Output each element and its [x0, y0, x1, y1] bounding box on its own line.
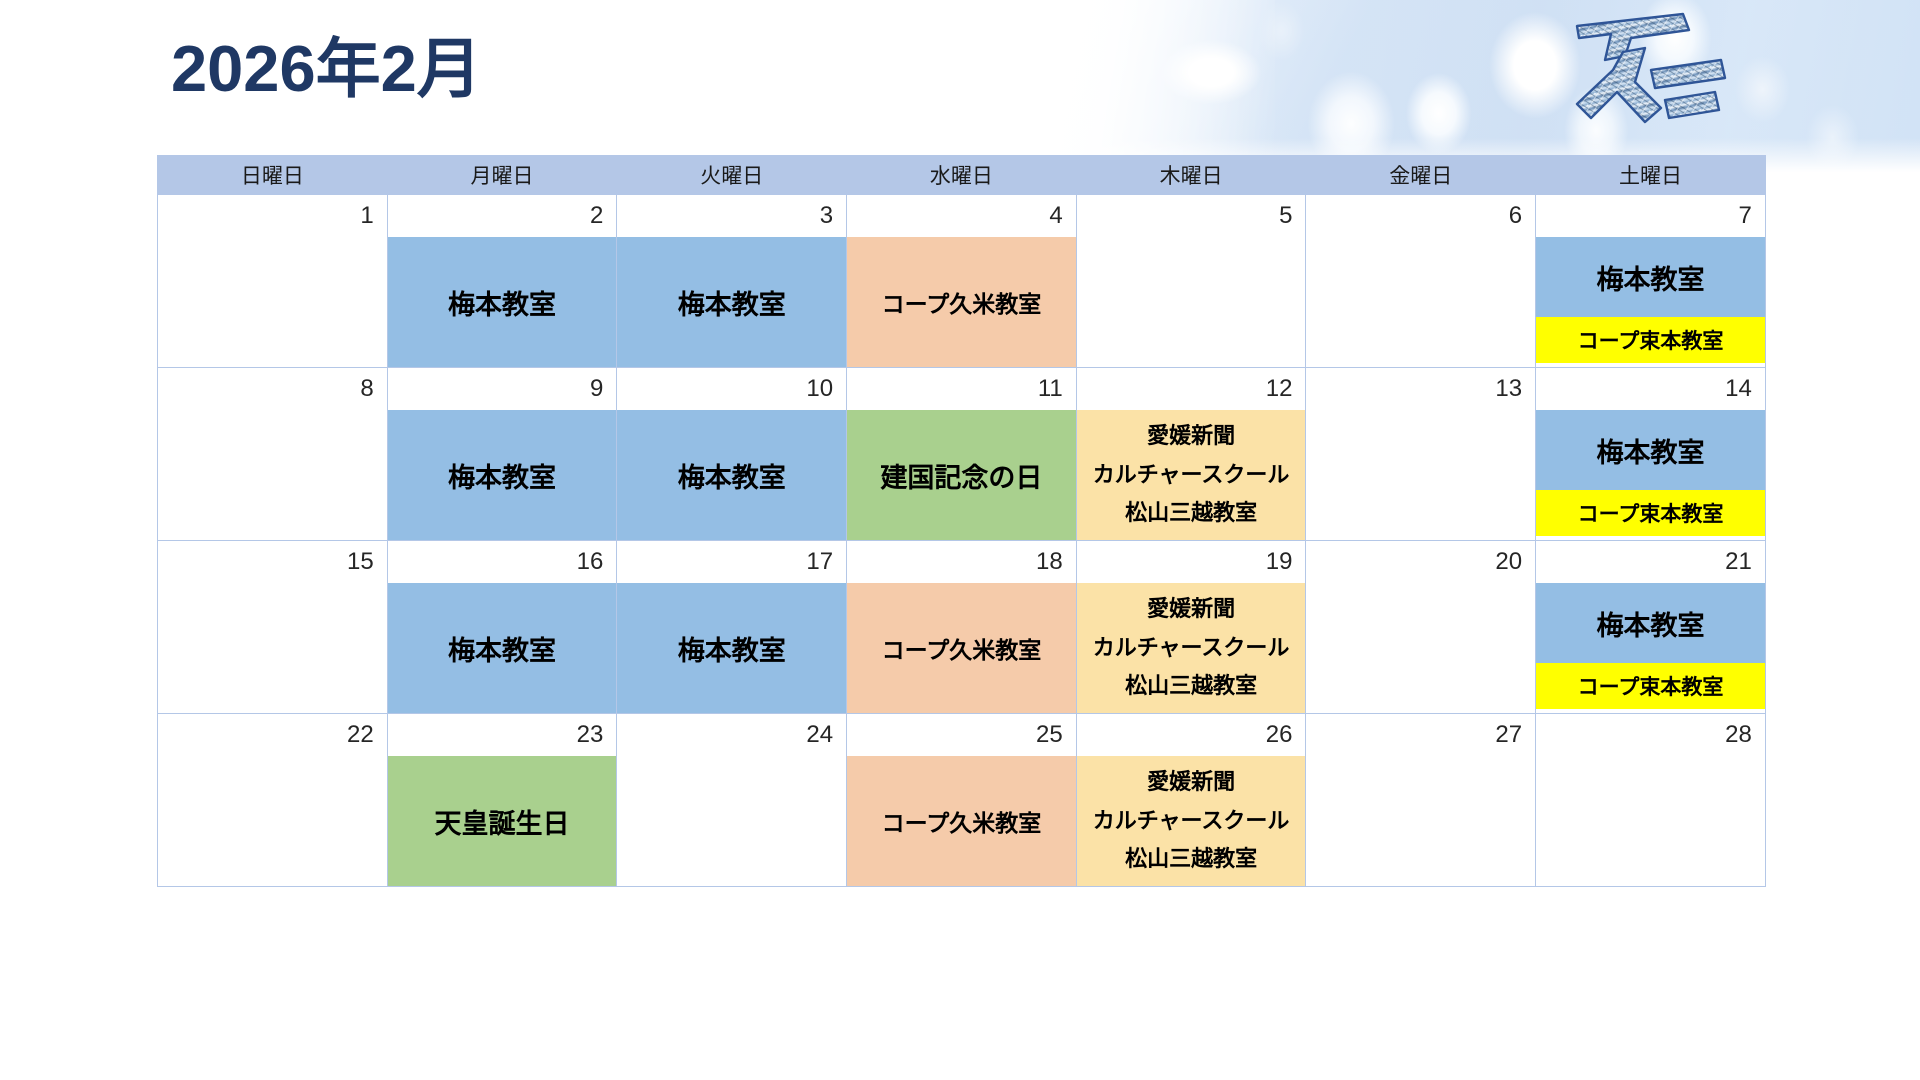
- day-events: 天皇誕生日: [388, 756, 617, 886]
- day-events: [158, 237, 387, 367]
- day-cell-inner: 7梅本教室コープ束本教室: [1536, 195, 1765, 367]
- day-events: コープ久米教室: [847, 756, 1076, 886]
- calendar-day-cell[interactable]: 15: [158, 541, 388, 714]
- monthly-calendar-table: 日曜日月曜日火曜日水曜日木曜日金曜日土曜日 12梅本教室3梅本教室4コープ久米教…: [157, 155, 1766, 887]
- calendar-week-row: 1516梅本教室17梅本教室18コープ久米教室19愛媛新聞カルチャースクール松山…: [158, 541, 1766, 714]
- event-line: カルチャースクール: [1093, 636, 1290, 660]
- day-number: 10: [617, 368, 846, 410]
- day-number: 13: [1306, 368, 1535, 410]
- calendar-day-cell[interactable]: 2梅本教室: [387, 195, 617, 368]
- event-peach-block[interactable]: コープ久米教室: [847, 237, 1076, 367]
- event-blue-block[interactable]: 梅本教室: [1536, 237, 1765, 317]
- weekday-header-1: 月曜日: [387, 156, 617, 195]
- day-cell-inner: 18コープ久米教室: [847, 541, 1076, 713]
- calendar-day-cell[interactable]: 19愛媛新聞カルチャースクール松山三越教室: [1076, 541, 1306, 714]
- day-number: 5: [1077, 195, 1306, 237]
- day-events: 梅本教室: [617, 583, 846, 713]
- event-blue-block[interactable]: 梅本教室: [617, 410, 846, 540]
- event-ehime-culture-school[interactable]: 愛媛新聞カルチャースクール松山三越教室: [1077, 756, 1306, 886]
- day-number: 18: [847, 541, 1076, 583]
- day-cell-inner: 11建国記念の日: [847, 368, 1076, 540]
- day-events: 梅本教室コープ束本教室: [1536, 237, 1765, 367]
- day-events: 梅本教室: [388, 410, 617, 540]
- event-line: 愛媛新聞: [1147, 424, 1235, 448]
- weekday-header-6: 土曜日: [1536, 156, 1766, 195]
- winter-banner-image: [1045, 0, 1920, 172]
- day-number: 12: [1077, 368, 1306, 410]
- day-number: 19: [1077, 541, 1306, 583]
- day-events: 建国記念の日: [847, 410, 1076, 540]
- day-cell-inner: 10梅本教室: [617, 368, 846, 540]
- calendar-day-cell[interactable]: 7梅本教室コープ束本教室: [1536, 195, 1766, 368]
- day-number: 28: [1536, 714, 1765, 756]
- day-cell-inner: 1: [158, 195, 387, 367]
- calendar-day-cell[interactable]: 27: [1306, 714, 1536, 887]
- calendar-day-cell[interactable]: 8: [158, 368, 388, 541]
- day-cell-inner: 24: [617, 714, 846, 886]
- day-number: 1: [158, 195, 387, 237]
- calendar-day-cell[interactable]: 22: [158, 714, 388, 887]
- weekday-header-4: 木曜日: [1076, 156, 1306, 195]
- day-cell-inner: 4コープ久米教室: [847, 195, 1076, 367]
- calendar-day-cell[interactable]: 3梅本教室: [617, 195, 847, 368]
- calendar-week-row: 12梅本教室3梅本教室4コープ久米教室567梅本教室コープ束本教室: [158, 195, 1766, 368]
- day-cell-inner: 13: [1306, 368, 1535, 540]
- event-line: 愛媛新聞: [1147, 770, 1235, 794]
- day-number: 4: [847, 195, 1076, 237]
- day-number: 3: [617, 195, 846, 237]
- day-events: [1306, 237, 1535, 367]
- day-events: 梅本教室コープ束本教室: [1536, 583, 1765, 713]
- event-blue-block[interactable]: 梅本教室: [388, 583, 617, 713]
- day-events: [1306, 410, 1535, 540]
- day-events: コープ久米教室: [847, 237, 1076, 367]
- event-blue-block[interactable]: 梅本教室: [388, 410, 617, 540]
- day-cell-inner: 26愛媛新聞カルチャースクール松山三越教室: [1077, 714, 1306, 886]
- day-number: 24: [617, 714, 846, 756]
- day-cell-inner: 9梅本教室: [388, 368, 617, 540]
- day-cell-inner: 19愛媛新聞カルチャースクール松山三越教室: [1077, 541, 1306, 713]
- day-cell-inner: 17梅本教室: [617, 541, 846, 713]
- event-line: 愛媛新聞: [1147, 597, 1235, 621]
- day-number: 21: [1536, 541, 1765, 583]
- event-blue-block[interactable]: 梅本教室: [1536, 583, 1765, 663]
- day-number: 6: [1306, 195, 1535, 237]
- day-cell-inner: 25コープ久米教室: [847, 714, 1076, 886]
- event-line: 松山三越教室: [1125, 501, 1257, 525]
- day-number: 14: [1536, 368, 1765, 410]
- day-cell-inner: 5: [1077, 195, 1306, 367]
- event-blue-block[interactable]: 梅本教室: [388, 237, 617, 367]
- calendar-day-cell[interactable]: 1: [158, 195, 388, 368]
- day-events: [158, 756, 387, 886]
- event-peach-block[interactable]: コープ久米教室: [847, 756, 1076, 886]
- day-number: 17: [617, 541, 846, 583]
- day-number: 22: [158, 714, 387, 756]
- calendar-day-cell[interactable]: 25コープ久米教室: [847, 714, 1077, 887]
- calendar-day-cell[interactable]: 21梅本教室コープ束本教室: [1536, 541, 1766, 714]
- day-events: [158, 410, 387, 540]
- day-events: 愛媛新聞カルチャースクール松山三越教室: [1077, 410, 1306, 540]
- day-events: 梅本教室コープ束本教室: [1536, 410, 1765, 540]
- day-events: [1077, 237, 1306, 367]
- event-line: カルチャースクール: [1093, 463, 1290, 487]
- weekday-header-3: 水曜日: [847, 156, 1077, 195]
- event-ehime-culture-school[interactable]: 愛媛新聞カルチャースクール松山三越教室: [1077, 410, 1306, 540]
- day-number: 26: [1077, 714, 1306, 756]
- day-cell-inner: 15: [158, 541, 387, 713]
- event-green-block[interactable]: 天皇誕生日: [388, 756, 617, 886]
- event-ehime-culture-school[interactable]: 愛媛新聞カルチャースクール松山三越教室: [1077, 583, 1306, 713]
- day-number: 9: [388, 368, 617, 410]
- day-number: 8: [158, 368, 387, 410]
- day-number: 27: [1306, 714, 1535, 756]
- day-number: 25: [847, 714, 1076, 756]
- day-cell-inner: 6: [1306, 195, 1535, 367]
- day-number: 11: [847, 368, 1076, 410]
- day-cell-inner: 27: [1306, 714, 1535, 886]
- event-yellow-block[interactable]: コープ束本教室: [1536, 317, 1765, 363]
- calendar-day-cell[interactable]: 10梅本教室: [617, 368, 847, 541]
- event-line: 松山三越教室: [1125, 674, 1257, 698]
- day-events: 梅本教室: [388, 237, 617, 367]
- event-peach-block[interactable]: コープ久米教室: [847, 583, 1076, 713]
- calendar-day-cell[interactable]: 9梅本教室: [387, 368, 617, 541]
- calendar-day-cell[interactable]: 20: [1306, 541, 1536, 714]
- day-events: 愛媛新聞カルチャースクール松山三越教室: [1077, 583, 1306, 713]
- day-number: 7: [1536, 195, 1765, 237]
- event-line: カルチャースクール: [1093, 809, 1290, 833]
- day-cell-inner: 16梅本教室: [388, 541, 617, 713]
- day-number: 23: [388, 714, 617, 756]
- day-cell-inner: 14梅本教室コープ束本教室: [1536, 368, 1765, 540]
- day-cell-inner: 28: [1536, 714, 1765, 886]
- calendar-day-cell[interactable]: 13: [1306, 368, 1536, 541]
- calendar-day-cell[interactable]: 28: [1536, 714, 1766, 887]
- day-number: 16: [388, 541, 617, 583]
- event-yellow-block[interactable]: コープ束本教室: [1536, 490, 1765, 536]
- calendar-day-cell[interactable]: 23天皇誕生日: [387, 714, 617, 887]
- calendar-day-cell[interactable]: 11建国記念の日: [847, 368, 1077, 541]
- day-cell-inner: 3梅本教室: [617, 195, 846, 367]
- calendar-day-cell[interactable]: 16梅本教室: [387, 541, 617, 714]
- day-number: 15: [158, 541, 387, 583]
- day-cell-inner: 23天皇誕生日: [388, 714, 617, 886]
- day-events: コープ久米教室: [847, 583, 1076, 713]
- event-blue-block[interactable]: 梅本教室: [617, 237, 846, 367]
- day-cell-inner: 21梅本教室コープ束本教室: [1536, 541, 1765, 713]
- event-line: 松山三越教室: [1125, 847, 1257, 871]
- event-blue-block[interactable]: 梅本教室: [1536, 410, 1765, 490]
- event-green-block[interactable]: 建国記念の日: [847, 410, 1076, 540]
- day-events: 愛媛新聞カルチャースクール松山三越教室: [1077, 756, 1306, 886]
- calendar-day-cell[interactable]: 4コープ久米教室: [847, 195, 1077, 368]
- page-title: 2026年2月: [171, 36, 482, 101]
- calendar-day-cell[interactable]: 12愛媛新聞カルチャースクール松山三越教室: [1076, 368, 1306, 541]
- calendar-day-cell[interactable]: 24: [617, 714, 847, 887]
- day-events: [1306, 583, 1535, 713]
- calendar-week-row: 2223天皇誕生日2425コープ久米教室26愛媛新聞カルチャースクール松山三越教…: [158, 714, 1766, 887]
- day-number: 20: [1306, 541, 1535, 583]
- weekday-header-5: 金曜日: [1306, 156, 1536, 195]
- season-kanji-mark: [1565, 8, 1741, 148]
- day-events: [617, 756, 846, 886]
- day-events: 梅本教室: [617, 237, 846, 367]
- day-cell-inner: 8: [158, 368, 387, 540]
- day-events: [1306, 756, 1535, 886]
- calendar-header-row: 日曜日月曜日火曜日水曜日木曜日金曜日土曜日: [158, 156, 1766, 195]
- day-cell-inner: 20: [1306, 541, 1535, 713]
- weekday-header-0: 日曜日: [158, 156, 388, 195]
- day-events: [158, 583, 387, 713]
- calendar-day-cell[interactable]: 26愛媛新聞カルチャースクール松山三越教室: [1076, 714, 1306, 887]
- day-events: [1536, 756, 1765, 886]
- day-events: 梅本教室: [388, 583, 617, 713]
- calendar-body: 12梅本教室3梅本教室4コープ久米教室567梅本教室コープ束本教室89梅本教室1…: [158, 195, 1766, 887]
- calendar-day-cell[interactable]: 5: [1076, 195, 1306, 368]
- day-events: 梅本教室: [617, 410, 846, 540]
- weekday-header-2: 火曜日: [617, 156, 847, 195]
- calendar-day-cell[interactable]: 14梅本教室コープ束本教室: [1536, 368, 1766, 541]
- calendar-day-cell[interactable]: 6: [1306, 195, 1536, 368]
- day-cell-inner: 22: [158, 714, 387, 886]
- event-yellow-block[interactable]: コープ束本教室: [1536, 663, 1765, 709]
- day-cell-inner: 12愛媛新聞カルチャースクール松山三越教室: [1077, 368, 1306, 540]
- day-cell-inner: 2梅本教室: [388, 195, 617, 367]
- calendar-day-cell[interactable]: 18コープ久米教室: [847, 541, 1077, 714]
- calendar-day-cell[interactable]: 17梅本教室: [617, 541, 847, 714]
- event-blue-block[interactable]: 梅本教室: [617, 583, 846, 713]
- day-number: 2: [388, 195, 617, 237]
- calendar-week-row: 89梅本教室10梅本教室11建国記念の日12愛媛新聞カルチャースクール松山三越教…: [158, 368, 1766, 541]
